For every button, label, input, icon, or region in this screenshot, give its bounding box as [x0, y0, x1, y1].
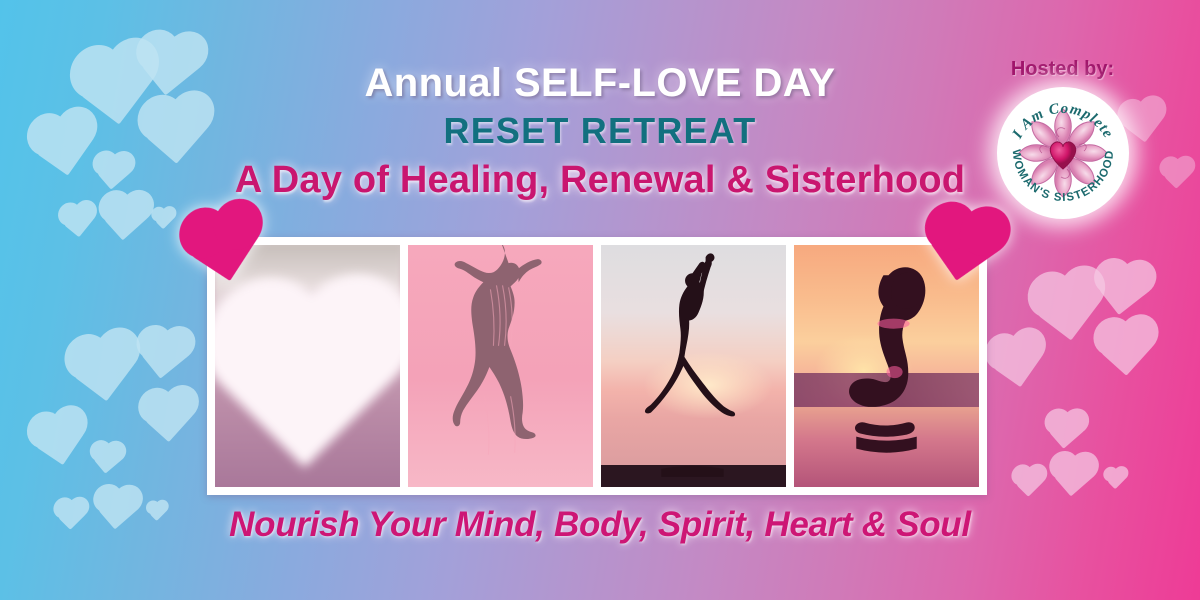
sisterhood-logo: I Am Complete WOMAN'S SISTERHOOD — [997, 87, 1129, 219]
photo-strip: Heart shape formed in ocean foam on pink… — [207, 237, 987, 495]
decorative-heart-icon — [1102, 270, 1144, 309]
decorative-heart-icon — [149, 399, 188, 435]
foam-heart-shape — [244, 322, 372, 440]
photo-panel-meditation-sunset: Woman kneeling in meditation at sunset w… — [794, 245, 979, 487]
decorative-heart-icon — [65, 209, 91, 233]
photo-panel-heart-in-sea-foam: Heart shape formed in ocean foam on pink… — [215, 245, 400, 487]
decorative-heart-icon — [1108, 472, 1123, 486]
decorative-heart-icon — [1018, 472, 1040, 492]
decorative-heart-icon — [1057, 461, 1089, 491]
decorative-heart-icon — [995, 341, 1039, 382]
decorative-heart-icon — [1051, 417, 1080, 444]
decorative-heart-icon — [144, 336, 183, 373]
decorative-heart-icon — [156, 212, 171, 226]
decorative-heart-icon — [1041, 283, 1095, 333]
decorative-heart-icon — [77, 345, 130, 394]
hosted-by-block: Hosted by: — [975, 58, 1150, 219]
tagline: Nourish Your Mind, Body, Spirit, Heart &… — [0, 505, 1200, 545]
right-corner-heart-icon — [934, 218, 994, 274]
photo-panel-yoga-warrior: Woman in warrior yoga pose at sunset by … — [601, 245, 786, 487]
decorative-heart-icon — [107, 201, 143, 234]
photo-panel-dancing-woman: Dancing woman silhouette on pink backgro… — [408, 245, 593, 487]
decorative-heart-icon — [95, 447, 119, 470]
decorative-heart-icon — [37, 419, 81, 461]
hosted-by-label: Hosted by: — [975, 58, 1150, 81]
event-banner: Annual SELF-LOVE DAY RESET RETREAT A Day… — [0, 0, 1200, 600]
decorative-heart-icon — [1105, 329, 1147, 368]
